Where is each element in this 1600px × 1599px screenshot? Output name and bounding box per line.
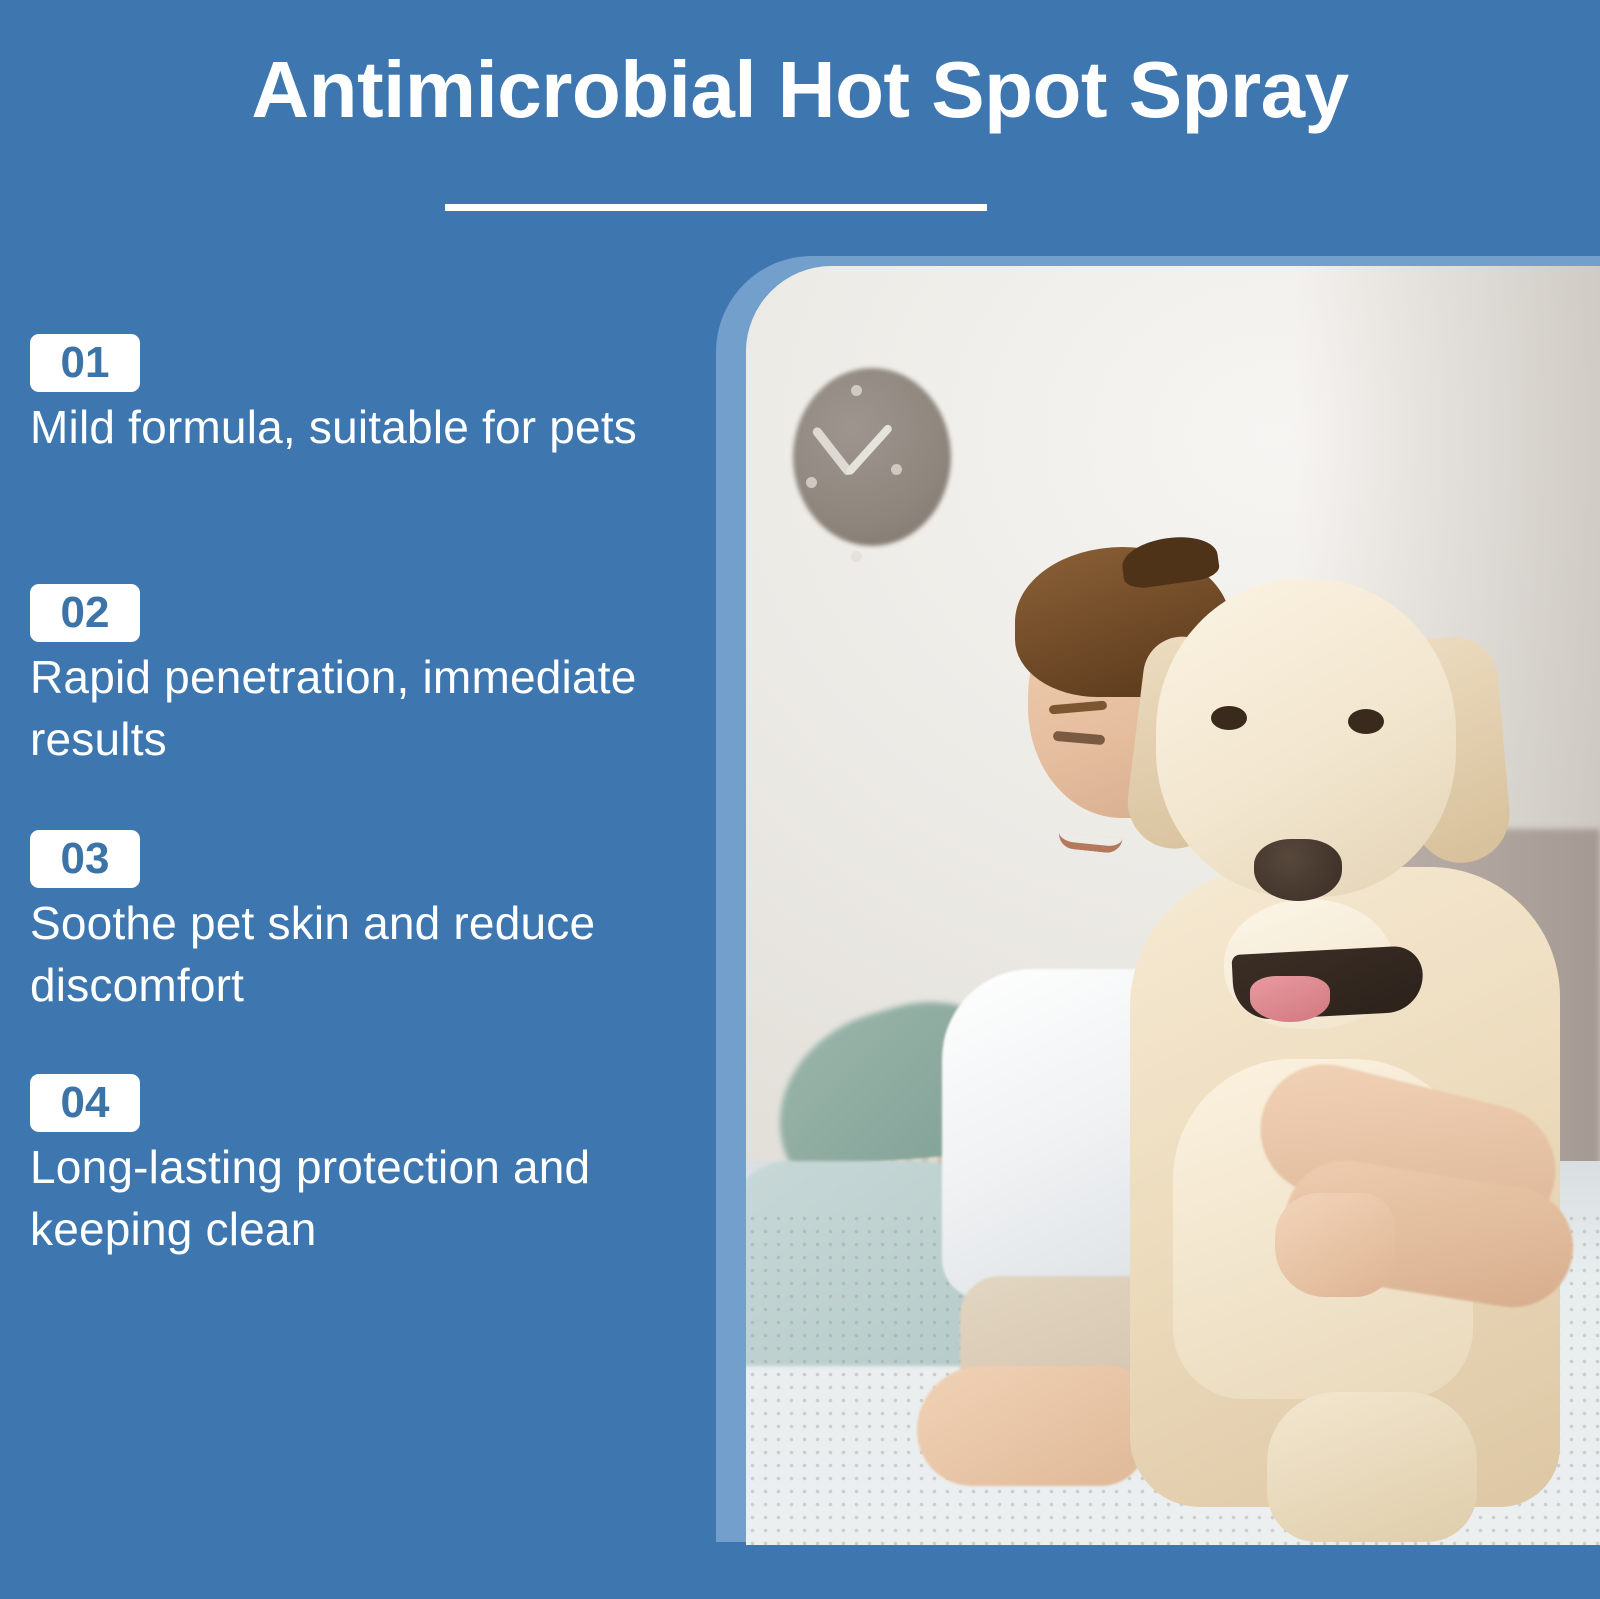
feature-number-badge: 03 — [30, 830, 140, 888]
wall-clock-icon — [793, 368, 951, 546]
dog-tongue — [1250, 976, 1330, 1022]
header: Antimicrobial Hot Spot Spray — [0, 0, 1600, 240]
page-title: Antimicrobial Hot Spot Spray — [0, 48, 1600, 132]
feature-text: Long-lasting protection and keeping clea… — [30, 1136, 670, 1260]
feature-number-badge: 01 — [30, 334, 140, 392]
dog-nose — [1254, 839, 1342, 901]
feature-item-04[interactable]: 04 Long-lasting protection and keeping c… — [30, 1074, 670, 1260]
feature-item-03[interactable]: 03 Soothe pet skin and reduce discomfort — [30, 830, 670, 1016]
clock-tick — [851, 385, 862, 396]
photo-scene: 5 — [746, 266, 1600, 1545]
dog-eye-right — [1348, 709, 1384, 734]
feature-item-02[interactable]: 02 Rapid penetration, immediate results — [30, 584, 670, 770]
product-photo: 5 — [746, 266, 1600, 1545]
feature-text: Mild formula, suitable for pets — [30, 396, 637, 458]
clock-tick — [806, 477, 817, 488]
boy-leg — [917, 1366, 1147, 1486]
feature-number-badge: 02 — [30, 584, 140, 642]
feature-text: Soothe pet skin and reduce discomfort — [30, 892, 670, 1016]
feature-number-badge: 04 — [30, 1074, 140, 1132]
feature-text: Rapid penetration, immediate results — [30, 646, 670, 770]
feature-item-01[interactable]: 01 Mild formula, suitable for pets — [30, 334, 637, 458]
dog-paw — [1267, 1392, 1477, 1542]
title-divider — [445, 204, 987, 211]
boy-hand — [1275, 1193, 1395, 1297]
